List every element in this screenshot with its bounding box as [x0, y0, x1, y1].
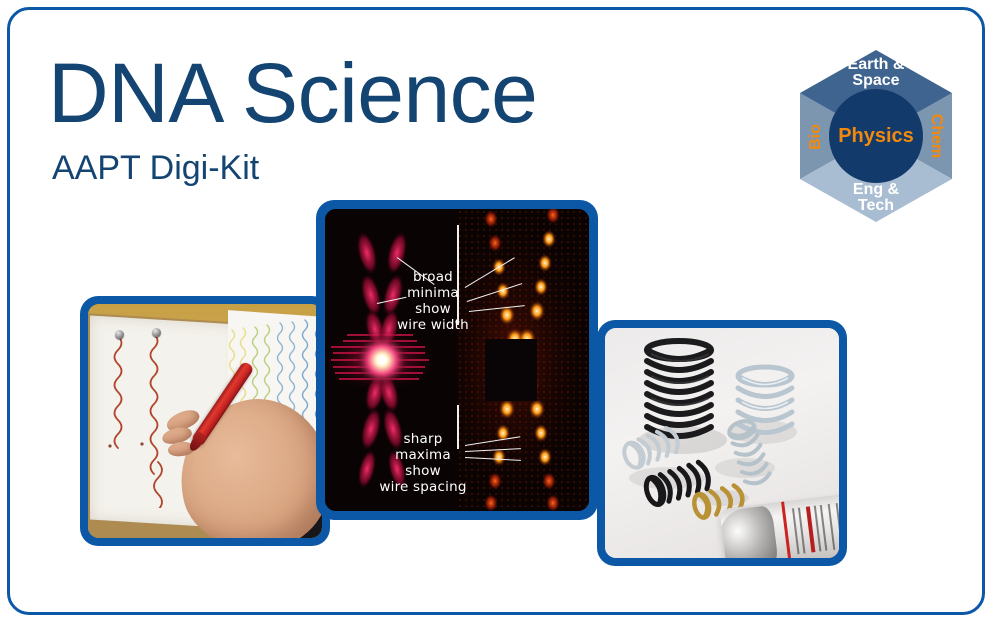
- hexagon-label-physics: Physics: [816, 125, 936, 148]
- photo-card-diffraction: broad minima show wire width sharp maxim…: [316, 200, 598, 520]
- hexagon-label-eng-tech-line2: Tech: [858, 197, 894, 214]
- photo-springs-collection: [605, 328, 839, 558]
- science-hexagon-logo: Earth & Space Bio Chem Eng & Tech Physic…: [800, 50, 952, 222]
- photo-laser-diffraction-pattern: broad minima show wire width sharp maxim…: [325, 209, 589, 511]
- photo-card-hand-drawing: [80, 296, 330, 546]
- annotation-sharp-maxima: sharp maxima show wire spacing: [351, 431, 495, 495]
- hexagon-label-earth-space-line2: Space: [852, 72, 899, 89]
- page-title: DNA Science: [48, 52, 688, 134]
- title-block: DNA Science AAPT Digi-Kit: [48, 52, 688, 188]
- hexagon-label-eng-tech: Eng & Tech: [826, 182, 926, 214]
- page-subtitle: AAPT Digi-Kit: [52, 150, 688, 187]
- annotation-broad-minima: broad minima show wire width: [373, 269, 493, 333]
- beam-block-mask: [485, 339, 537, 401]
- hexagon-label-earth-space-line1: Earth &: [848, 56, 905, 73]
- poster-root: DNA Science AAPT Digi-Kit Earth & Space …: [0, 0, 1000, 630]
- photo-card-springs: [597, 320, 847, 566]
- hexagon-label-eng-tech-line1: Eng &: [853, 181, 899, 198]
- photo-hand-drawing-helices: [88, 304, 322, 538]
- hexagon-label-earth-space: Earth & Space: [826, 57, 926, 89]
